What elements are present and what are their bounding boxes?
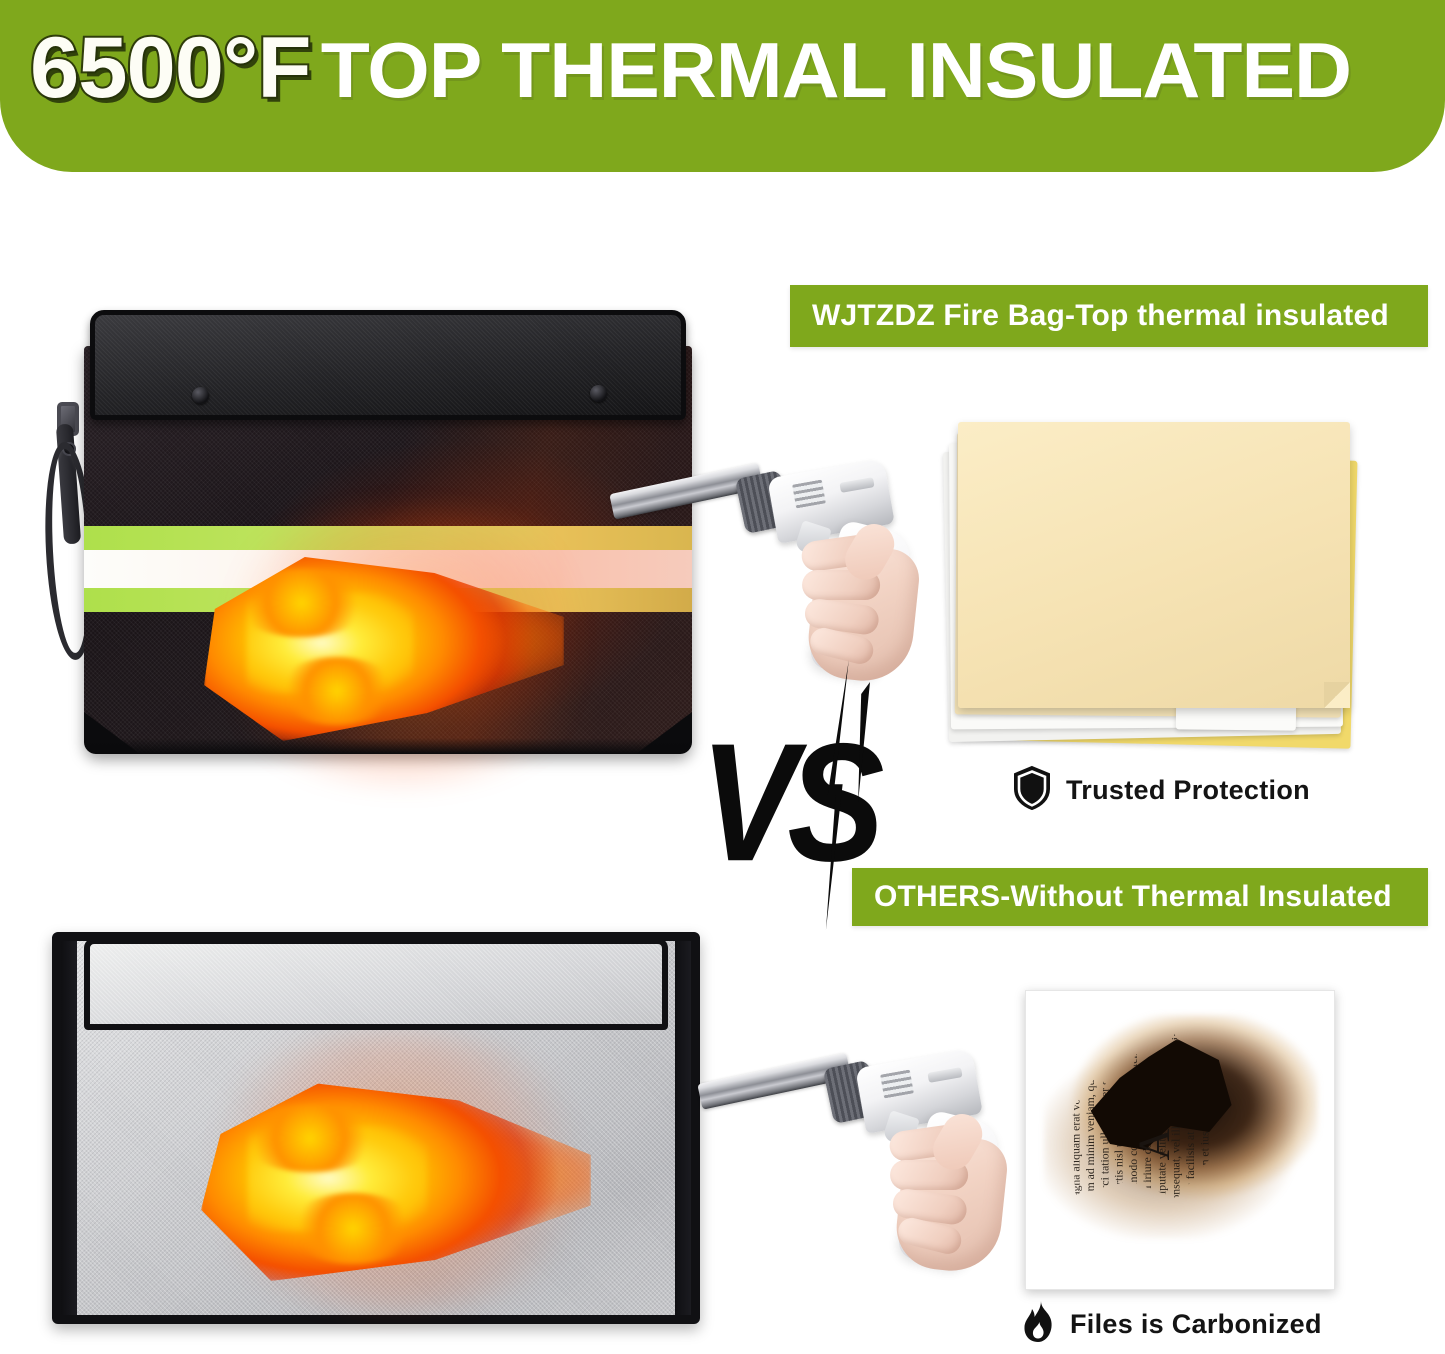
header-subtitle: TOP THERMAL INSULATED bbox=[321, 26, 1351, 114]
snap-button-left bbox=[192, 387, 209, 404]
page-title: 6500°FTOP THERMAL INSULATED bbox=[30, 24, 1351, 114]
burned-page-drop-cap: A bbox=[1128, 1129, 1179, 1161]
flame-on-silver-bag bbox=[201, 1071, 591, 1281]
reflective-stripe-band bbox=[84, 526, 692, 612]
heat-glow bbox=[181, 1031, 611, 1311]
flame-jet bbox=[201, 1071, 591, 1281]
bag-body bbox=[84, 310, 692, 760]
label-product-good-text: WJTZDZ Fire Bag-Top thermal insulated bbox=[812, 299, 1389, 333]
stripe-white bbox=[84, 550, 692, 588]
hand-holding-torch bbox=[781, 513, 936, 698]
flame-icon bbox=[1022, 1300, 1056, 1349]
bag-side-trim-left bbox=[61, 941, 77, 1315]
document-sheet-manila-top bbox=[958, 422, 1350, 708]
status-badge-trusted: Trusted Protection bbox=[1012, 765, 1310, 816]
flame-core bbox=[248, 1126, 427, 1231]
flame-lick bbox=[276, 657, 398, 725]
bag-bottom-edge bbox=[84, 738, 692, 754]
stripe-green-top bbox=[84, 526, 692, 550]
temperature-rating: 6500°F bbox=[30, 20, 310, 116]
burned-document: magna aliquam erat volutpat. Ut wisi eni… bbox=[1025, 990, 1335, 1290]
torch-vent bbox=[880, 1070, 914, 1099]
vs-label: VS bbox=[700, 718, 875, 886]
page-fold-corner bbox=[1324, 682, 1350, 708]
label-product-bad-text: OTHERS-Without Thermal Insulated bbox=[874, 880, 1392, 914]
shield-icon bbox=[1012, 765, 1052, 816]
silver-fireproof-bag bbox=[52, 932, 722, 1330]
black-fireproof-bag bbox=[22, 300, 702, 770]
status-badge-carbonized-text: Files is Carbonized bbox=[1070, 1309, 1322, 1340]
status-badge-carbonized: Files is Carbonized bbox=[1022, 1300, 1322, 1349]
intact-document-stack bbox=[940, 418, 1350, 748]
flame-lick bbox=[287, 1193, 420, 1264]
torch-vent bbox=[792, 480, 826, 509]
hand-holding-torch bbox=[869, 1103, 1024, 1288]
label-product-bad: OTHERS-Without Thermal Insulated bbox=[852, 868, 1428, 926]
stripe-green-bottom bbox=[84, 588, 692, 612]
butane-torch-bottom bbox=[700, 1058, 1030, 1298]
label-product-good: WJTZDZ Fire Bag-Top thermal insulated bbox=[790, 285, 1428, 347]
flame-lick bbox=[240, 1105, 380, 1172]
header-banner: 6500°FTOP THERMAL INSULATED bbox=[0, 0, 1445, 172]
bag-side-trim-right bbox=[675, 941, 691, 1315]
status-badge-trusted-text: Trusted Protection bbox=[1066, 775, 1310, 806]
snap-button-right bbox=[590, 385, 607, 402]
butane-torch-top bbox=[612, 468, 942, 708]
bag-flap bbox=[84, 938, 668, 1030]
bag-flap bbox=[90, 310, 686, 420]
